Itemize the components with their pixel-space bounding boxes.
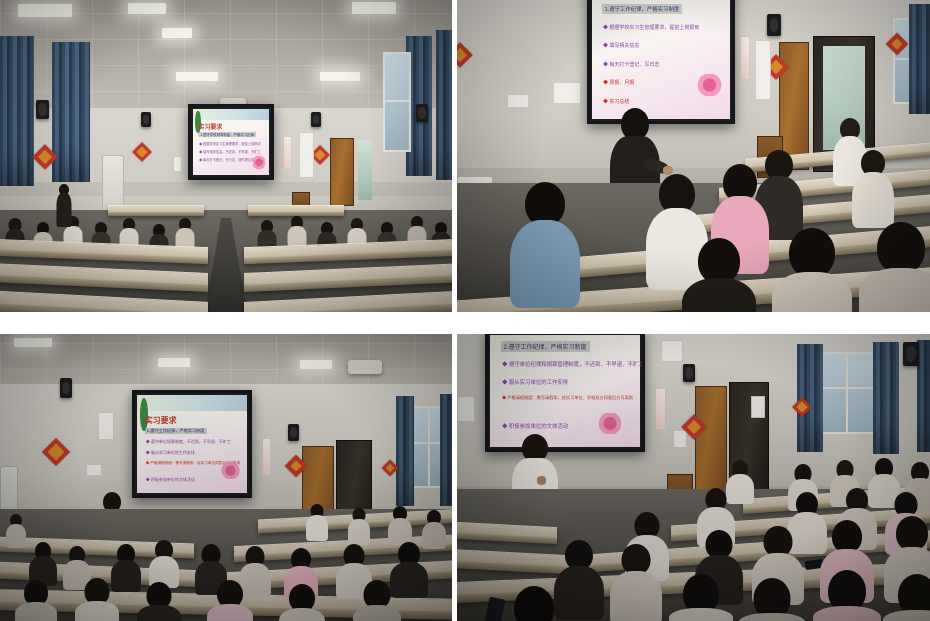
student: [887, 574, 930, 621]
wall-poster: [655, 388, 666, 430]
wall-poster: [740, 36, 750, 80]
slide-subtitle: 1.遵守工作纪律，严格实习制度: [602, 4, 683, 14]
wall-speaker: [288, 424, 299, 441]
wall-speaker: [767, 14, 781, 36]
ceiling-light: [128, 3, 166, 14]
slide-bullet: ◆ 积极参加单位的文体活动: [502, 422, 568, 430]
student: [687, 238, 751, 313]
slide-bullet: ◆ 填写相关信息: [603, 42, 639, 49]
wall-poster: [751, 396, 765, 418]
slide-title: 实习要求: [145, 415, 177, 426]
lecture-table: [248, 205, 344, 215]
presentation-slide: 实习要求 1.遵守工作纪律，严格实习制度 ◆ 遵守单位规章制度，不迟到、不早退、…: [137, 395, 247, 493]
student: [865, 222, 930, 313]
slide-bullet: ◆ 周报、月报: [603, 79, 634, 86]
slide-bullet: ◆ 遵守单位纪律和规章管理制度，不迟到、不早退、不旷工: [502, 360, 644, 368]
presentation-slide: 2.遵守工作纪律，严格实习制度 ◆ 遵守单位纪律和规章管理制度，不迟到、不早退、…: [490, 335, 640, 447]
student: [388, 506, 412, 544]
wall-speaker: [903, 342, 919, 366]
collage-gutter-horizontal-right: [457, 313, 930, 334]
wall-poster: [661, 340, 683, 362]
presentation-slide: 1.遵守工作纪律，严格实习制度 ◆ 根据学校实习生管理要求，提前上岗报到 ◆ 填…: [592, 0, 730, 119]
slide-stamp-graphic: [253, 155, 265, 170]
photo-collage: 实习要求 1.遵守学校规章制度，严格实习纪律 ◆ 根据学校实习生管理要求，提前上…: [0, 0, 930, 621]
student: [853, 150, 893, 224]
ceiling-light: [352, 2, 396, 14]
student: [356, 580, 398, 621]
wall-speaker: [36, 100, 49, 119]
slide-bullet: ◆ 服从实习单位的工作安排: [502, 378, 568, 386]
student: [613, 544, 659, 621]
window-curtain: [436, 30, 452, 180]
classroom-door: [695, 386, 727, 494]
lecture-table: [108, 205, 204, 215]
slide-bullet: ◆ 积极参加单位的文体活动: [146, 477, 195, 483]
door-glass: [358, 140, 372, 200]
wall-poster: [673, 430, 687, 448]
photo-panel-top-left[interactable]: 实习要求 1.遵守学校规章制度，严格实习纪律 ◆ 根据学校实习生管理要求，提前上…: [0, 0, 452, 312]
wall-poster: [86, 464, 102, 476]
slide-title: 实习要求: [198, 122, 222, 131]
wall-poster: [507, 94, 529, 108]
ceiling-light: [158, 358, 190, 367]
presenter-hand: [537, 476, 546, 485]
slide-bullet: ◆ 严格请假制度：需写请假条，经实习单位、学校双方同意后方可离岗: [502, 395, 633, 401]
slide-stamp-graphic: [697, 74, 722, 97]
wall-poster: [173, 156, 182, 172]
slide-bullet: ◆ 根据学校实习生管理要求，提前上岗报到: [199, 141, 260, 146]
slide-stamp-graphic: [221, 462, 241, 480]
presentation-slide: 实习要求 1.遵守学校规章制度，严格实习纪律 ◆ 根据学校实习生管理要求，提前上…: [193, 109, 269, 175]
slide-bullet: ◆ 服从实习单位的工作安排: [146, 450, 195, 456]
student: [777, 228, 847, 313]
photo-panel-top-right[interactable]: 1.遵守工作纪律，严格实习制度 ◆ 根据学校实习生管理要求，提前上岗报到 ◆ 填…: [457, 0, 930, 313]
ceiling-light: [300, 360, 332, 369]
window-curtain: [0, 36, 34, 186]
wall-poster: [283, 136, 292, 170]
student: [288, 216, 306, 246]
slide-subtitle: 1.遵守学校规章制度，严格实习纪律: [198, 132, 256, 137]
student: [348, 508, 370, 544]
student: [306, 504, 328, 540]
slide-bullet: ◆ 根据学校实习生管理要求，提前上岗报到: [603, 24, 699, 31]
student: [743, 578, 801, 621]
student: [112, 544, 140, 590]
ceiling-light: [320, 72, 360, 81]
classroom-door: [330, 138, 354, 206]
student: [78, 578, 116, 621]
projection-screen: 实习要求 1.遵守学校规章制度，严格实习纪律 ◆ 根据学校实习生管理要求，提前上…: [188, 104, 274, 180]
window-curtain: [396, 396, 414, 506]
student: [817, 570, 877, 621]
wall-poster: [553, 82, 581, 104]
wall-speaker: [416, 104, 428, 122]
student: [282, 584, 322, 621]
ceiling-light: [18, 4, 72, 17]
wall-speaker: [683, 364, 695, 382]
student: [6, 514, 26, 548]
projector: [348, 360, 382, 374]
wall-poster: [755, 40, 771, 100]
window-curtain: [873, 342, 899, 454]
student: [673, 574, 729, 621]
wall-speaker: [311, 112, 321, 127]
standing-attendee: [56, 184, 72, 228]
projection-screen: 1.遵守工作纪律，严格实习制度 ◆ 根据学校实习生管理要求，提前上岗报到 ◆ 填…: [587, 0, 735, 124]
slide-bullet: ◆ 填写相关信息，不迟到、不早退、不旷工: [199, 149, 260, 154]
slide-bullet: ◆ 实习总结: [603, 98, 629, 105]
student: [515, 182, 575, 302]
projection-screen: 2.遵守工作纪律，严格实习制度 ◆ 遵守单位纪律和规章管理制度，不迟到、不早退、…: [485, 334, 645, 452]
student: [18, 580, 54, 621]
collage-gutter-vertical: [452, 0, 457, 621]
slide-bullet: ◆ 每天打卡登记、写日志: [603, 61, 659, 68]
wall-poster: [299, 132, 314, 178]
student: [503, 586, 565, 621]
slide-title: 2.遵守工作纪律，严格实习制度: [501, 341, 590, 352]
slide-stamp-graphic: [598, 413, 622, 433]
ceiling-light: [162, 28, 192, 38]
projection-screen: 实习要求 1.遵守工作纪律，严格实习制度 ◆ 遵守单位规章制度，不迟到、不早退、…: [132, 390, 252, 498]
window-curtain: [52, 42, 90, 182]
wall-poster: [262, 438, 271, 476]
wall-poster: [98, 412, 114, 440]
student: [30, 542, 56, 584]
student: [176, 218, 194, 248]
window-curtain: [440, 394, 452, 506]
window: [817, 352, 879, 434]
photo-panel-bottom-left[interactable]: 实习要求 1.遵守工作纪律，严格实习制度 ◆ 遵守单位规章制度，不迟到、不早退、…: [0, 334, 452, 621]
wall-poster: [457, 396, 475, 422]
photo-panel-bottom-right[interactable]: 2.遵守工作纪律，严格实习制度 ◆ 遵守单位纪律和规章管理制度，不迟到、不早退、…: [457, 334, 930, 621]
student: [150, 540, 178, 586]
slide-subtitle: 1.遵守工作纪律，严格实习制度: [145, 428, 207, 434]
wall-speaker: [141, 112, 151, 127]
ceiling-light: [176, 72, 218, 81]
student: [140, 582, 178, 621]
wall-speaker: [60, 378, 72, 398]
ceiling-light: [14, 338, 52, 347]
window-curtain: [909, 4, 930, 114]
student: [210, 580, 250, 621]
slide-bullet: ◆ 遵守单位规章制度，不迟到、不早退、不旷工: [146, 439, 231, 445]
window: [383, 52, 411, 152]
